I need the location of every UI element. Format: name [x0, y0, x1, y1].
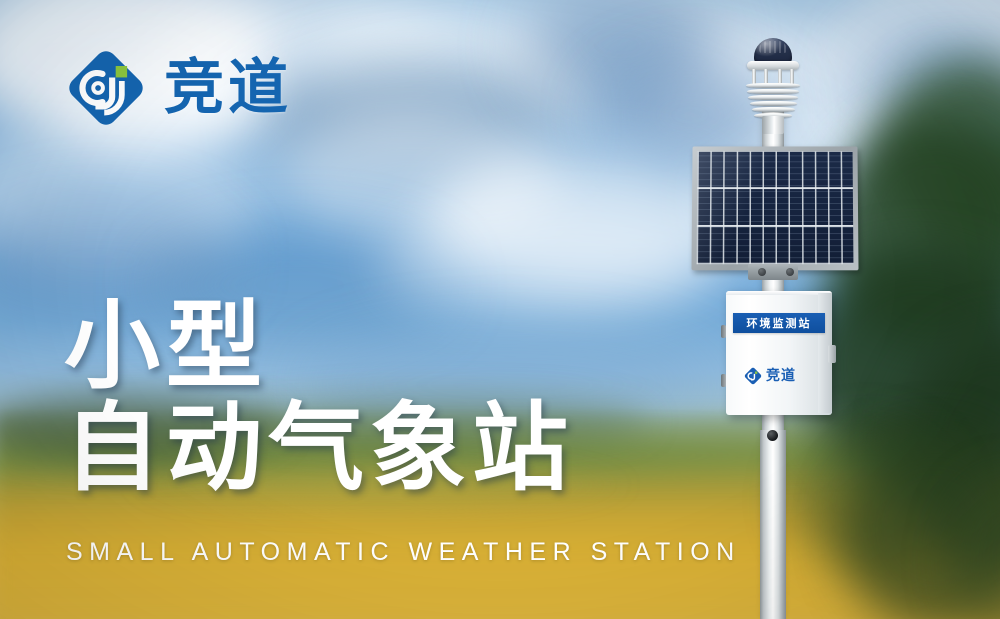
brand-name: 竞道: [164, 58, 292, 118]
brand-logo: 竞道: [62, 44, 292, 132]
product-banner: 竞道: [0, 0, 1000, 619]
headline-subtitle: SMALL AUTOMATIC WEATHER STATION: [66, 538, 741, 567]
headline-line-2: 自动气象站: [64, 398, 574, 500]
headline-line-1: 小型: [64, 296, 574, 398]
headline-block: 小型 自动气象站: [64, 296, 574, 500]
jingdao-diamond-logo-icon: [62, 44, 150, 132]
cloud-shadow: [600, 60, 780, 170]
cloud-shadow: [260, 60, 560, 180]
